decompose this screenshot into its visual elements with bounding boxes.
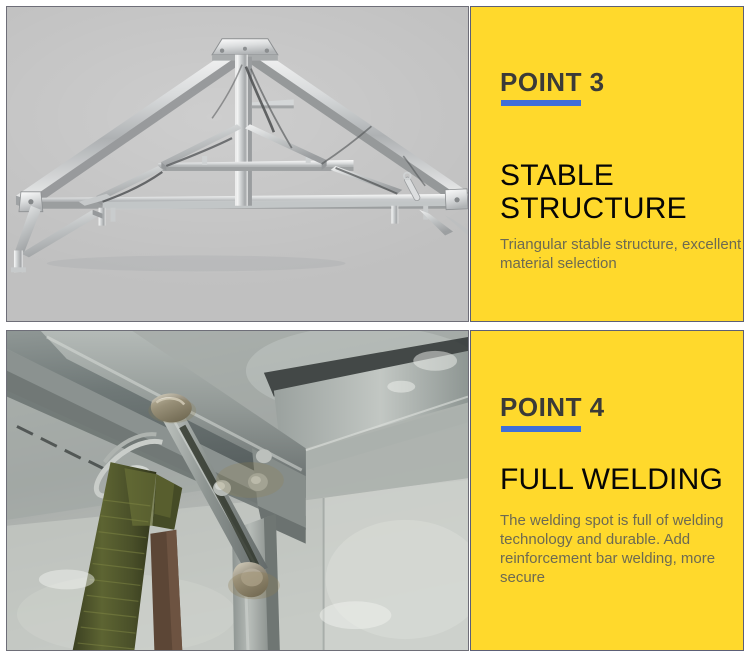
kicker-underline [501, 426, 581, 432]
weld-photo [6, 330, 469, 651]
truss-illustration [7, 7, 468, 321]
body-text-point-4: The welding spot is full of welding tech… [500, 511, 744, 587]
kicker-point-4: POINT 4 [500, 394, 605, 420]
headline-point-3: STABLE STRUCTURE [500, 159, 715, 225]
truss-photo [6, 6, 469, 322]
product-feature-sheet: POINT 3 STABLE STRUCTURE Triangular stab… [0, 0, 750, 657]
headline-point-4: FULL WELDING [500, 463, 723, 496]
feature-block-point-3: POINT 3 STABLE STRUCTURE Triangular stab… [6, 6, 744, 322]
weld-illustration [7, 331, 468, 650]
feature-block-point-4: POINT 4 FULL WELDING The welding spot is… [6, 330, 744, 651]
info-panel-point-3: POINT 3 STABLE STRUCTURE Triangular stab… [470, 6, 744, 322]
kicker-point-3: POINT 3 [500, 69, 605, 95]
body-text-point-3: Triangular stable structure, excellent m… [500, 235, 744, 273]
kicker-underline [501, 100, 581, 106]
info-panel-point-4: POINT 4 FULL WELDING The welding spot is… [470, 330, 744, 651]
